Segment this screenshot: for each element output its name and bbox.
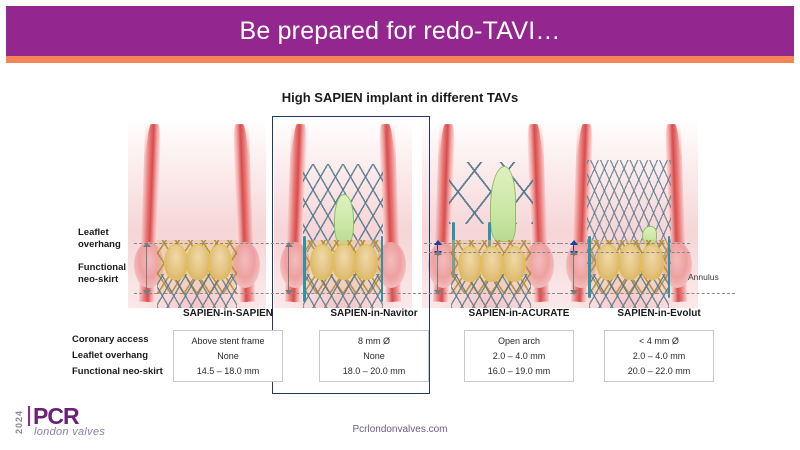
reference-line-annulus-panel1 [134,293,294,294]
value-box-sapien-in-evolut: < 4 mm Ø 2.0 – 4.0 mm 20.0 – 22.0 mm [604,330,714,382]
reference-line-leaflet-overhang-panel4 [560,243,690,244]
value-box-sapien-in-acurate: Open arch 2.0 – 4.0 mm 16.0 – 19.0 mm [464,330,574,382]
reference-line-leaflet-overhang-panel1 [134,243,294,244]
header-band: Be prepared for redo-TAVI… [6,6,794,56]
reference-line-neoskirt-panel4 [560,252,690,253]
illustration-sapien-in-acurate [422,118,560,308]
row-label-leaflet-overhang: Leaflet overhang [72,350,148,361]
measure-arrow-neoskirt-panel4 [573,254,574,291]
value-coronary-access: Open arch [498,336,540,346]
illustration-sapien-in-sapien [128,118,266,308]
label-functional-neoskirt-line2: neo-skirt [78,274,126,286]
row-label-coronary-access: Coronary access [72,334,149,345]
illustration-sapien-in-evolut [560,118,698,308]
column-header-sapien-in-acurate: SAPIEN-in-ACURATE [445,308,593,319]
leaflet-yellow-middle [186,244,210,280]
logo-divider-bar [28,406,30,426]
label-functional-neoskirt-line1: Functional [78,262,126,274]
acurate-leaflet-green [490,166,516,242]
label-leaflet-overhang-line2: overhang [78,239,121,251]
page-title: Be prepared for redo-TAVI… [239,17,560,46]
value-leaflet-overhang: 2.0 – 4.0 mm [633,351,686,361]
label-leaflet-overhang: Leaflet overhang [78,227,121,251]
header-accent-rule [6,56,794,63]
value-functional-neoskirt: 18.0 – 20.0 mm [343,366,406,376]
measure-arrow-neoskirt-panel3 [437,254,438,291]
reference-line-annulus-panel2 [276,293,426,294]
measure-arrow-neoskirt-panel2 [288,246,289,291]
value-coronary-access: Above stent frame [191,336,264,346]
leaflet-yellow-left [596,244,620,280]
leaflet-yellow-left [164,244,188,280]
footer-url: Pcrlondonvalves.com [0,424,800,435]
value-functional-neoskirt: 20.0 – 22.0 mm [628,366,691,376]
comparison-table: SAPIEN-in-SAPIEN SAPIEN-in-Navitor SAPIE… [60,308,740,388]
slide-canvas: Be prepared for redo-TAVI… High SAPIEN i… [0,0,800,450]
label-annulus: Annulus [688,272,719,282]
label-leaflet-overhang-line1: Leaflet [78,227,121,239]
value-coronary-access: < 4 mm Ø [639,336,679,346]
reference-line-leaflet-overhang-panel3 [424,243,560,244]
reference-line-annulus-panel3 [424,293,560,294]
leaflet-yellow-middle [618,244,642,280]
value-functional-neoskirt: 14.5 – 18.0 mm [197,366,260,376]
reference-line-neoskirt-panel3 [424,252,560,253]
row-label-functional-neoskirt: Functional neo-skirt [72,366,163,377]
leaflet-yellow-right [640,244,664,280]
commissural-post-right [668,236,671,298]
value-leaflet-overhang: None [363,351,385,361]
value-box-sapien-in-sapien: Above stent frame None 14.5 – 18.0 mm [173,330,283,382]
label-functional-neoskirt: Functional neo-skirt [78,262,126,286]
value-leaflet-overhang: None [217,351,239,361]
commissural-post-left [588,236,591,298]
value-box-sapien-in-navitor: 8 mm Ø None 18.0 – 20.0 mm [319,330,429,382]
leaflet-yellow-right [208,244,232,280]
column-header-sapien-in-evolut: SAPIEN-in-Evolut [585,308,733,319]
column-header-sapien-in-navitor: SAPIEN-in-Navitor [300,308,448,319]
section-subtitle: High SAPIEN implant in different TAVs [0,90,800,105]
column-header-sapien-in-sapien: SAPIEN-in-SAPIEN [154,308,302,319]
value-coronary-access: 8 mm Ø [358,336,390,346]
value-leaflet-overhang: 2.0 – 4.0 mm [493,351,546,361]
reference-line-annulus-panel4 [560,293,735,294]
measure-arrow-neoskirt-panel1 [146,246,147,291]
value-functional-neoskirt: 16.0 – 19.0 mm [488,366,551,376]
